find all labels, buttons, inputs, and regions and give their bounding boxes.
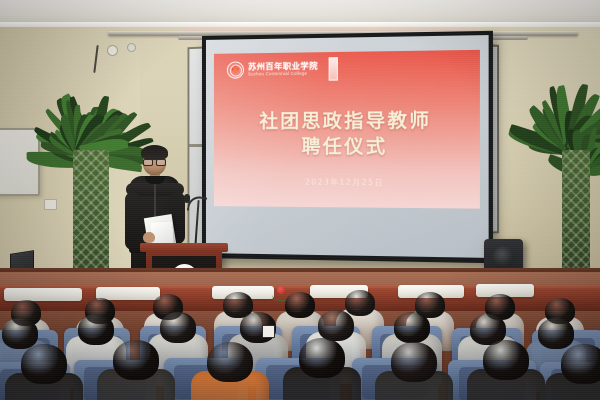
audience-member-head xyxy=(561,344,600,384)
classroom-photo-scene: 🍁 苏州百年职业学院 Suzhou Centennial College 社团思… xyxy=(0,0,600,400)
audience-member xyxy=(0,0,600,400)
audience-area xyxy=(0,0,600,400)
